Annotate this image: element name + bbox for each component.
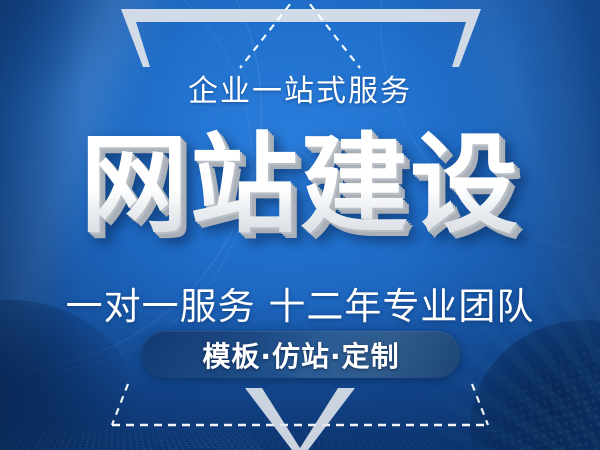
tagline: 企业一站式服务 xyxy=(0,66,600,110)
page-title: 网站建设 xyxy=(0,120,600,252)
dashed-v-lines-icon xyxy=(180,0,420,72)
promo-poster: 企业一站式服务 网站建设 一对一服务 十二年专业团队 模板·仿站·定制 xyxy=(0,0,600,450)
status-badge: 模板·仿站·定制 xyxy=(142,331,460,378)
subtitle: 一对一服务 十二年专业团队 xyxy=(0,276,600,330)
badge-label: 模板·仿站·定制 xyxy=(202,335,399,375)
